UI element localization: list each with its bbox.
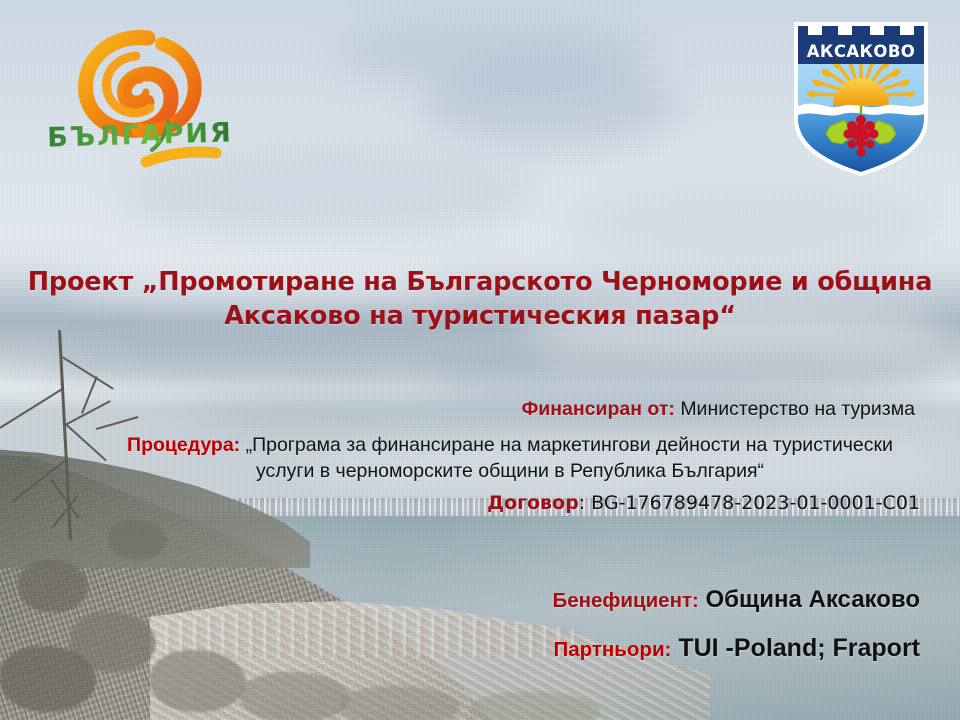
procedure-line: Процедура: „Програма за финансиране на м… bbox=[0, 432, 960, 485]
slide-title-line-2: Аксаково на туристическия пазар“ bbox=[18, 300, 942, 334]
funded-by-line: Финансиран от: Министерство на туризма bbox=[0, 396, 960, 423]
funded-by-value: Министерство на туризма bbox=[680, 398, 915, 420]
partners-line: Партньори: TUI -Poland; Fraport bbox=[0, 634, 920, 663]
contract-separator: : bbox=[579, 492, 585, 514]
slide-title: Проект „Промотиране на Българското Черно… bbox=[18, 266, 942, 334]
partners-label: Партньори: bbox=[554, 638, 672, 661]
bulgaria-tourism-logo: БЪЛГАРИЯ bbox=[40, 22, 240, 172]
procedure-value-line-1: „Програма за финансиране на маркетингови… bbox=[246, 434, 768, 456]
beneficiary-value: Община Аксаково bbox=[706, 586, 920, 613]
aksakovo-coat-of-arms: АКСАКОВО bbox=[786, 14, 936, 176]
background-bush bbox=[240, 672, 350, 720]
contract-value: BG-176789478-2023-01-0001-C01 bbox=[591, 492, 920, 514]
procedure-label: Процедура: bbox=[127, 434, 240, 456]
project-details: Финансиран от: Министерство на туризма П… bbox=[0, 396, 960, 516]
cloud-shape bbox=[420, 60, 680, 150]
aksakovo-shield-icon: АКСАКОВО bbox=[786, 14, 936, 176]
funded-by-label: Финансиран от: bbox=[522, 398, 675, 420]
partners-value: TUI -Poland; Fraport bbox=[678, 634, 920, 662]
beneficiary-line: Бенефициент: Община Аксаково bbox=[0, 586, 920, 614]
contract-label: Договор bbox=[487, 492, 579, 514]
cloud-shape bbox=[560, 185, 940, 265]
bulgaria-logo-wordmark: БЪЛГАРИЯ bbox=[40, 117, 241, 154]
contract-line: Договор: BG-176789478-2023-01-0001-C01 bbox=[0, 491, 960, 517]
presentation-slide: БЪЛГАРИЯ bbox=[0, 0, 960, 720]
aksakovo-banner-text: АКСАКОВО bbox=[807, 42, 915, 61]
slide-title-line-1: Проект „Промотиране на Българското Черно… bbox=[18, 266, 942, 300]
beneficiary-label: Бенефициент: bbox=[553, 589, 699, 612]
